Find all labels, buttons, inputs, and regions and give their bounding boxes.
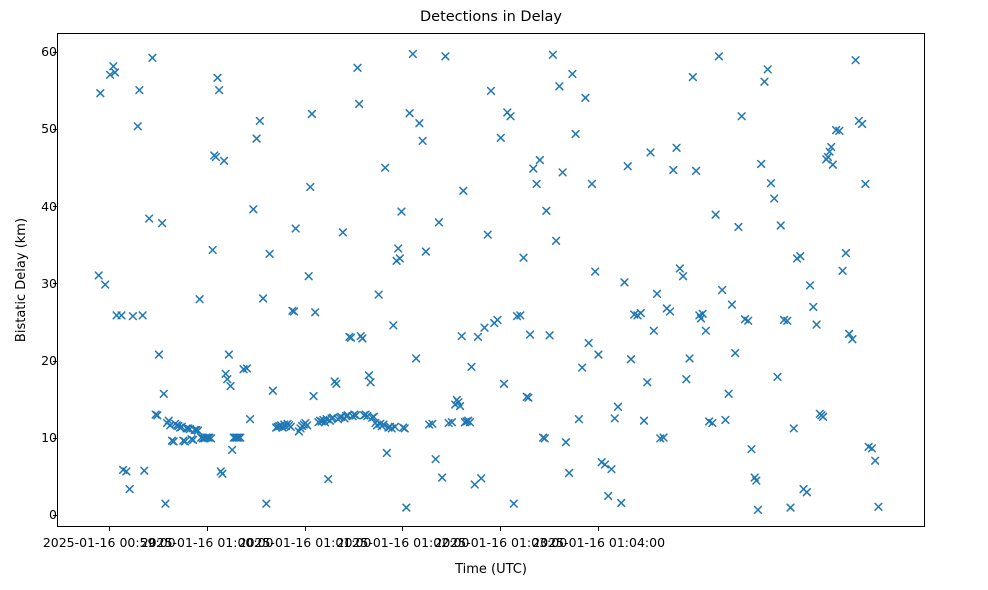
data-point [159,220,166,227]
data-point [209,247,216,254]
y-tick-mark [53,438,57,439]
data-point [768,180,775,187]
data-point [618,500,625,507]
data-point [413,355,420,362]
x-tick-mark [109,527,110,531]
data-point [196,296,203,303]
data-point [771,195,778,202]
data-point [356,101,363,108]
data-point [406,110,413,117]
data-point [562,439,569,446]
data-point [312,309,319,316]
data-point [686,355,693,362]
data-point [266,250,273,257]
data-point [813,321,820,328]
data-point [383,450,390,457]
data-point [589,181,596,188]
x-axis-ticks: 2025-01-16 00:59:002025-01-16 01:00:0020… [0,527,988,567]
data-point [572,131,579,138]
data-point [494,317,501,324]
data-point [160,390,167,397]
data-point [366,372,373,379]
data-point [872,457,879,464]
data-point [624,163,631,170]
data-point [247,416,254,423]
data-point [829,161,836,168]
data-point [585,340,592,347]
data-point [354,64,361,71]
x-axis-label: Time (UTC) [57,562,925,577]
data-point [396,255,403,262]
data-point [683,376,690,383]
x-tick-mark [500,527,501,531]
data-point [667,308,674,315]
data-point [475,334,482,341]
data-point [436,219,443,226]
data-point [309,111,316,118]
data-point [602,461,609,468]
data-point [442,53,449,60]
data-point [790,425,797,432]
data-point [149,54,156,61]
data-point [549,51,556,58]
data-point [738,113,745,120]
data-point [579,364,586,371]
data-point [530,165,537,172]
x-tick-mark [402,527,403,531]
x-tick-label: 2025-01-16 01:04:00 [532,536,665,550]
data-point [559,169,566,176]
data-point [134,123,141,130]
data-point [263,500,270,507]
data-point [641,417,648,424]
data-point [305,273,312,280]
data-point [359,335,366,342]
data-point [546,332,553,339]
data-point [224,376,231,383]
data-point [621,279,628,286]
y-tick-mark [53,515,57,516]
data-point [501,380,508,387]
data-point [481,324,488,331]
data-point [250,206,257,213]
data-point [333,380,340,387]
data-point [458,333,465,340]
data-point [390,322,397,329]
data-point [689,74,696,81]
data-point [497,134,504,141]
data-point [615,403,622,410]
data-point [774,373,781,380]
x-tick-mark [598,527,599,531]
data-point [842,250,849,257]
chart-title: Detections in Delay [57,8,925,26]
data-point [582,94,589,101]
data-point [488,88,495,95]
scatter-series [58,34,924,526]
y-tick-mark [53,361,57,362]
data-point [712,211,719,218]
data-point [95,272,102,279]
x-tick-mark [305,527,306,531]
figure-canvas: Detections in Delay 0102030405060 2025-0… [0,0,988,590]
data-point [787,504,794,511]
data-point [156,351,163,358]
data-point [875,503,882,510]
data-point [543,207,550,214]
data-point [310,393,317,400]
data-point [253,135,260,142]
data-point [256,117,263,124]
data-point [644,379,651,386]
data-point [693,167,700,174]
data-point [162,500,169,507]
data-point [422,248,429,255]
data-point [536,157,543,164]
data-point [556,83,563,90]
data-point [439,474,446,481]
data-point [807,282,814,289]
data-point [595,351,602,358]
y-axis-label: Bistatic Delay (km) [14,33,29,527]
data-point [325,476,332,483]
data-point [214,74,221,81]
data-point [553,237,560,244]
data-point [478,475,485,482]
data-point [432,456,439,463]
data-point [637,310,644,317]
data-point [419,137,426,144]
y-tick-mark [53,206,57,207]
data-point [367,379,374,386]
data-point [608,466,615,473]
data-point [226,351,233,358]
data-point [722,417,729,424]
data-point [484,231,491,238]
data-point [395,245,402,252]
data-point [382,164,389,171]
data-point [628,356,635,363]
data-point [118,312,125,319]
data-point [141,467,148,474]
data-point [676,265,683,272]
data-point [777,222,784,229]
data-point [416,120,423,127]
data-point [139,312,146,319]
data-point [566,470,573,477]
data-point [219,470,226,477]
data-point [307,184,314,191]
data-point [460,187,467,194]
data-point [839,267,846,274]
data-point [221,157,228,164]
data-point [468,363,475,370]
data-point [852,57,859,64]
data-point [761,78,768,85]
data-point [716,53,723,60]
data-point [605,493,612,500]
y-axis-tick-marks [53,0,57,590]
data-point [533,181,540,188]
data-point [725,390,732,397]
y-tick-mark [53,283,57,284]
data-point [673,144,680,151]
data-point [797,253,804,260]
data-point [569,71,576,78]
data-point [654,290,661,297]
data-point [764,66,771,73]
data-point [375,291,382,298]
data-point [647,149,654,156]
data-point [229,447,236,454]
data-point [755,506,762,513]
data-point [611,415,618,422]
data-point [680,273,687,280]
data-point [803,489,810,496]
data-point [810,304,817,311]
x-tick-mark [207,527,208,531]
data-point [576,416,583,423]
data-point [260,295,267,302]
data-point [292,225,299,232]
data-point [650,327,657,334]
data-point [146,215,153,222]
data-point [862,181,869,188]
data-point [126,486,133,493]
data-point [227,383,234,390]
data-point [97,90,104,97]
data-point [527,331,534,338]
data-point [702,327,709,334]
data-point [748,446,755,453]
data-point [216,87,223,94]
data-point [729,301,736,308]
data-point [592,268,599,275]
data-point [510,500,517,507]
data-point [471,481,478,488]
data-point [719,287,726,294]
data-point [507,113,514,120]
data-point [732,350,739,357]
data-point [339,229,346,236]
data-point [735,224,742,231]
data-point [409,51,416,58]
data-point [859,121,866,128]
data-point [102,281,109,288]
y-tick-mark [53,52,57,53]
data-point [520,254,527,261]
data-point [758,161,765,168]
data-point [136,87,143,94]
plot-area[interactable] [57,33,925,527]
y-tick-mark [53,129,57,130]
data-point [398,208,405,215]
data-point [403,504,410,511]
data-point [129,313,136,320]
data-point [269,387,276,394]
data-point [670,167,677,174]
